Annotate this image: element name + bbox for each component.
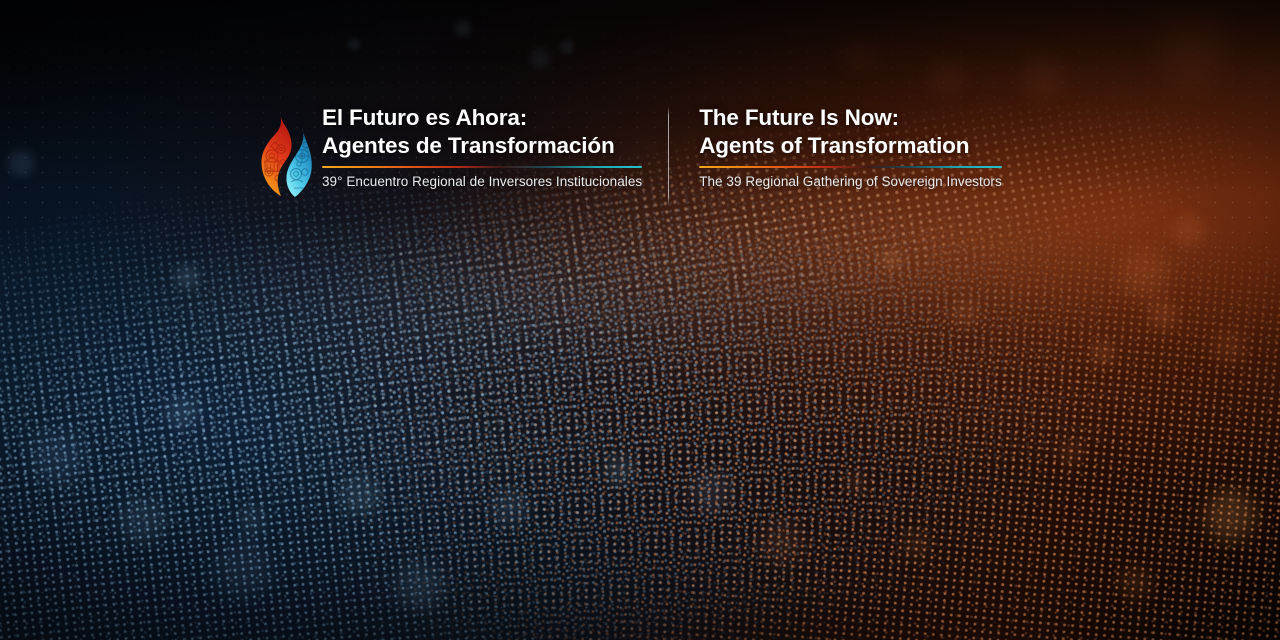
bokeh-disc [605, 455, 635, 485]
dual-flame-logo-icon [258, 112, 314, 198]
particle-field-blue [0, 0, 1280, 640]
bokeh-disc [950, 300, 978, 328]
bokeh-disc [175, 265, 199, 289]
bokeh-disc [845, 470, 869, 494]
bokeh-disc [1205, 490, 1257, 542]
bokeh-disc [30, 430, 84, 484]
bokeh-disc [238, 505, 268, 535]
subtitle-english: The 39 Regional Gathering of Sovereign I… [699, 174, 1002, 189]
bokeh-disc [1212, 330, 1246, 364]
bokeh-disc [690, 470, 732, 512]
bokeh-disc [165, 395, 199, 429]
bokeh-disc [880, 250, 902, 272]
bokeh-disc [395, 560, 445, 610]
poster-canvas: El Futuro es Ahora: Agentes de Transform… [0, 0, 1280, 640]
background-gradient [0, 0, 1280, 640]
bokeh-disc [1118, 566, 1152, 600]
headline-english-line1: The Future Is Now: [699, 104, 1002, 132]
particle-field-blue-crest [0, 0, 1280, 640]
bokeh-disc [455, 20, 471, 36]
subtitle-spanish: 39° Encuentro Regional de Inversores Ins… [322, 174, 642, 189]
background-wave-ribbon [0, 0, 1280, 640]
top-shade-overlay [0, 0, 1280, 640]
bokeh-disc [1160, 10, 1224, 88]
headline-english-line2: Agents of Transformation [699, 132, 1002, 160]
headline-spanish-line2: Agentes de Transformación [322, 132, 642, 160]
bokeh-disc [900, 530, 930, 560]
bokeh-disc [340, 475, 380, 515]
vignette-overlay [0, 0, 1280, 640]
bokeh-disc [120, 497, 166, 543]
particle-field-warm-crest [0, 0, 1280, 640]
titles: El Futuro es Ahora: Agentes de Transform… [314, 104, 1002, 206]
bokeh-disc [930, 60, 966, 96]
accent-rule-spanish [322, 166, 642, 168]
bokeh-disc [492, 490, 528, 526]
bokeh-disc [530, 48, 550, 68]
event-lockup: El Futuro es Ahora: Agentes de Transform… [258, 104, 1002, 206]
bokeh-disc [840, 40, 878, 70]
language-divider [668, 106, 669, 206]
bokeh-disc [1022, 56, 1066, 100]
title-block-english: The Future Is Now: Agents of Transformat… [699, 104, 1002, 189]
bokeh-disc [1148, 300, 1178, 330]
bokeh-disc [8, 150, 34, 176]
bokeh-disc [560, 40, 574, 54]
bokeh-disc [1172, 214, 1204, 246]
accent-rule-english [699, 166, 1002, 168]
bokeh-disc [348, 38, 360, 50]
bokeh-disc [760, 520, 804, 564]
bokeh-disc [1058, 440, 1084, 466]
title-block-spanish: El Futuro es Ahora: Agentes de Transform… [322, 104, 642, 189]
bokeh-disc [215, 540, 273, 598]
particle-speckle [0, 0, 1280, 640]
bokeh-disc [1120, 250, 1168, 298]
particle-field-warm [0, 0, 1280, 640]
headline-spanish-line1: El Futuro es Ahora: [322, 104, 642, 132]
bokeh-disc [1090, 340, 1116, 366]
flame-warm-shape [261, 116, 291, 196]
